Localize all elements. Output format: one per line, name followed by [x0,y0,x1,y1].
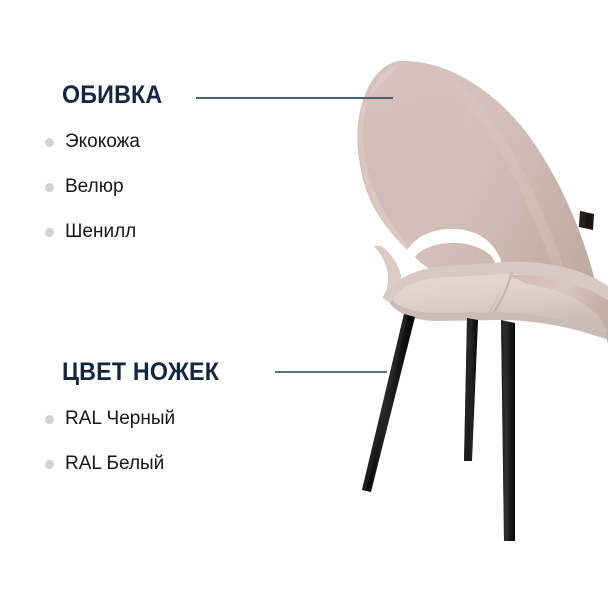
option-label: RAL Белый [65,451,164,477]
leader-line-upholstery [196,97,393,99]
backrest-tab [579,211,594,230]
bullet-icon [45,415,54,424]
list-item[interactable]: RAL Белый [62,451,231,477]
list-item[interactable]: Велюр [62,174,170,200]
callout-heading-upholstery: ОБИВКА [62,80,162,110]
callout-heading-leg-color: ЦВЕТ НОЖЕК [62,357,219,387]
option-label: Экокожа [65,129,140,155]
option-list-leg-color: RAL Черный RAL Белый [62,406,231,477]
list-item[interactable]: Шенилл [62,219,170,245]
bullet-icon [45,138,54,147]
chair-legs [362,314,515,541]
list-item[interactable]: Экокожа [62,129,170,155]
bullet-icon [45,183,54,192]
leader-line-legcolor [275,371,387,373]
product-callout-image: ОБИВКА Экокожа Велюр Шенилл ЦВЕТ НОЖЕК R… [0,0,608,608]
option-label: Шенилл [65,219,136,245]
option-label: RAL Черный [65,406,175,432]
option-list-upholstery: Экокожа Велюр Шенилл [62,129,170,245]
callout-leg-color: ЦВЕТ НОЖЕК RAL Черный RAL Белый [62,357,231,477]
option-label: Велюр [65,174,124,200]
chair-seat [386,262,608,340]
bullet-icon [45,228,54,237]
list-item[interactable]: RAL Черный [62,406,231,432]
bullet-icon [45,460,54,469]
callout-upholstery: ОБИВКА Экокожа Велюр Шенилл [62,80,170,245]
